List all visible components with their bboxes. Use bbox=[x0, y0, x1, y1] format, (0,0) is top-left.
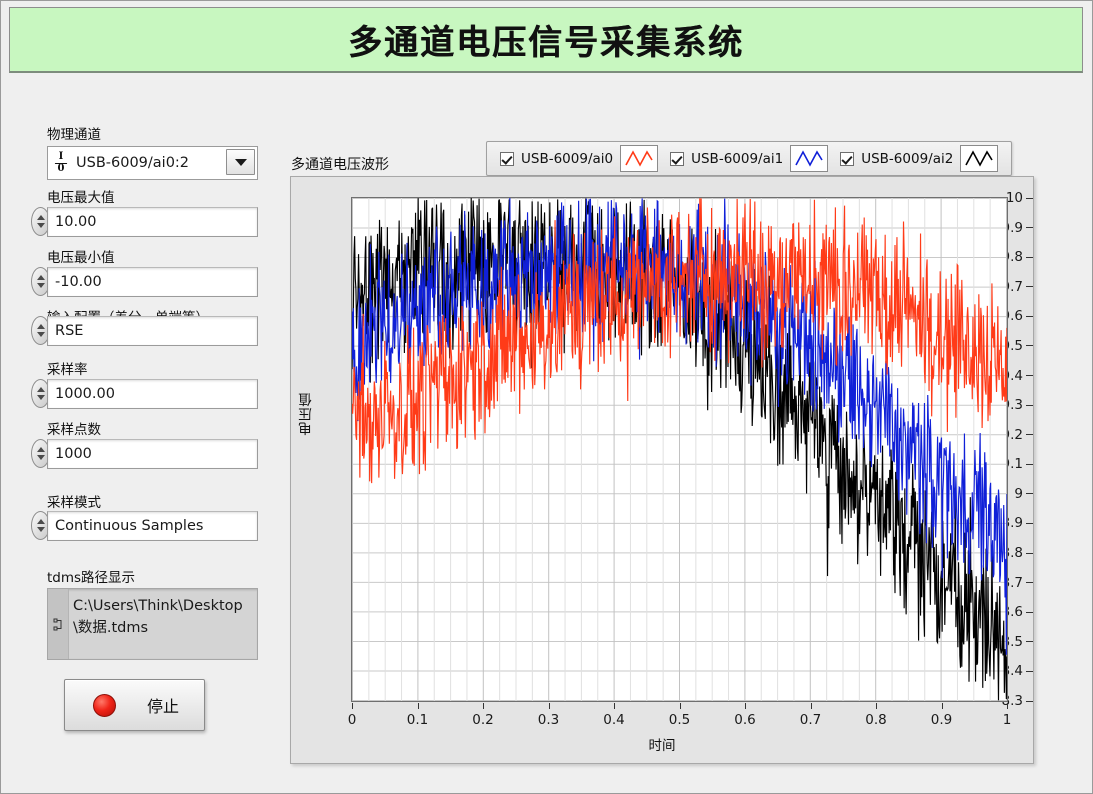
title-banner: 多通道电压信号采集系统 bbox=[9, 7, 1083, 73]
chevron-down-icon[interactable] bbox=[226, 149, 255, 175]
y-axis-label: 电压值 bbox=[297, 392, 317, 436]
x-tick-mark bbox=[680, 703, 681, 709]
voltage-min-field[interactable]: -10.00 bbox=[47, 267, 258, 297]
legend-checkbox[interactable] bbox=[840, 152, 854, 166]
x-tick-mark bbox=[876, 703, 877, 709]
x-tick-label: 0.4 bbox=[603, 712, 624, 728]
label-sample-mode: 采样模式 bbox=[47, 491, 101, 511]
x-tick-label: 0.5 bbox=[669, 712, 690, 728]
voltage-max-field[interactable]: 10.00 bbox=[47, 207, 258, 237]
x-tick-label: 0.8 bbox=[865, 712, 886, 728]
voltage-min-value: -10.00 bbox=[48, 274, 102, 290]
waveform-svg bbox=[352, 198, 1007, 701]
x-tick-mark bbox=[942, 703, 943, 709]
chart-title: 多通道电压波形 bbox=[291, 154, 389, 174]
legend-item[interactable]: USB-6009/ai2 bbox=[834, 145, 1004, 172]
legend-color-swatch[interactable] bbox=[790, 145, 828, 172]
x-tick-label: 1 bbox=[1003, 712, 1012, 728]
x-tick-mark bbox=[1007, 703, 1008, 709]
x-tick-mark bbox=[549, 703, 550, 709]
physical-channel-value: USB-6009/ai0:2 bbox=[69, 155, 189, 171]
legend-label: USB-6009/ai0 bbox=[521, 151, 613, 167]
x-tick-label: 0.9 bbox=[931, 712, 952, 728]
voltage-max-value: 10.00 bbox=[48, 214, 97, 230]
page-title: 多通道电压信号采集系统 bbox=[348, 15, 744, 64]
x-axis-label: 时间 bbox=[291, 734, 1033, 754]
x-tick-label: 0.7 bbox=[800, 712, 821, 728]
x-tick-label: 0.6 bbox=[734, 712, 755, 728]
legend-item[interactable]: USB-6009/ai1 bbox=[664, 145, 834, 172]
x-tick-mark bbox=[418, 703, 419, 709]
x-tick-mark bbox=[811, 703, 812, 709]
legend-label: USB-6009/ai1 bbox=[691, 151, 783, 167]
sample-count-field[interactable]: 1000 bbox=[47, 439, 258, 469]
sample-mode-field[interactable]: Continuous Samples bbox=[47, 511, 258, 541]
label-sample-rate: 采样率 bbox=[47, 358, 88, 378]
chart-panel: 电压值 109.99.89.79.69.59.49.39.29.198.98.8… bbox=[290, 176, 1034, 764]
label-voltage-max: 电压最大值 bbox=[47, 186, 115, 206]
legend-checkbox[interactable] bbox=[500, 152, 514, 166]
stop-button[interactable]: 停止 bbox=[64, 679, 205, 731]
sample-rate-value: 1000.00 bbox=[48, 386, 115, 402]
application-window: 多通道电压信号采集系统 物理通道 I0 USB-6009/ai0:2 电压最大值… bbox=[0, 0, 1093, 794]
sample-mode-value: Continuous Samples bbox=[48, 518, 203, 534]
x-tick-label: 0.3 bbox=[538, 712, 559, 728]
x-tick-mark bbox=[483, 703, 484, 709]
input-config-value: RSE bbox=[48, 323, 83, 339]
sample-count-value: 1000 bbox=[48, 446, 92, 462]
input-config-field[interactable]: RSE bbox=[47, 316, 258, 346]
chart-legend[interactable]: USB-6009/ai0USB-6009/ai1USB-6009/ai2 bbox=[486, 141, 1012, 176]
x-tick-label: 0 bbox=[348, 712, 357, 728]
stop-button-label: 停止 bbox=[147, 693, 179, 717]
tdms-path-value: C:\Users\Think\Desktop\数据.tdms bbox=[69, 589, 257, 659]
legend-color-swatch[interactable] bbox=[620, 145, 658, 172]
label-sample-count: 采样点数 bbox=[47, 418, 101, 438]
x-tick-mark bbox=[745, 703, 746, 709]
io-glyph-icon: I0 bbox=[53, 153, 69, 172]
x-tick-label: 0.2 bbox=[472, 712, 493, 728]
legend-color-swatch[interactable] bbox=[960, 145, 998, 172]
label-physical-channel: 物理通道 bbox=[47, 123, 101, 143]
path-folder-icon bbox=[48, 589, 69, 659]
label-tdms-path: tdms路径显示 bbox=[47, 566, 135, 586]
red-led-icon bbox=[93, 694, 116, 717]
legend-label: USB-6009/ai2 bbox=[861, 151, 953, 167]
legend-checkbox[interactable] bbox=[670, 152, 684, 166]
x-tick-mark bbox=[614, 703, 615, 709]
tdms-path-display[interactable]: C:\Users\Think\Desktop\数据.tdms bbox=[47, 588, 258, 660]
x-tick-mark bbox=[352, 703, 353, 709]
x-tick-label: 0.1 bbox=[407, 712, 428, 728]
physical-channel-combo[interactable]: I0 USB-6009/ai0:2 bbox=[47, 146, 258, 180]
sample-rate-field[interactable]: 1000.00 bbox=[47, 379, 258, 409]
legend-item[interactable]: USB-6009/ai0 bbox=[494, 145, 664, 172]
plot-area[interactable] bbox=[351, 197, 1008, 702]
label-voltage-min: 电压最小值 bbox=[47, 246, 115, 266]
